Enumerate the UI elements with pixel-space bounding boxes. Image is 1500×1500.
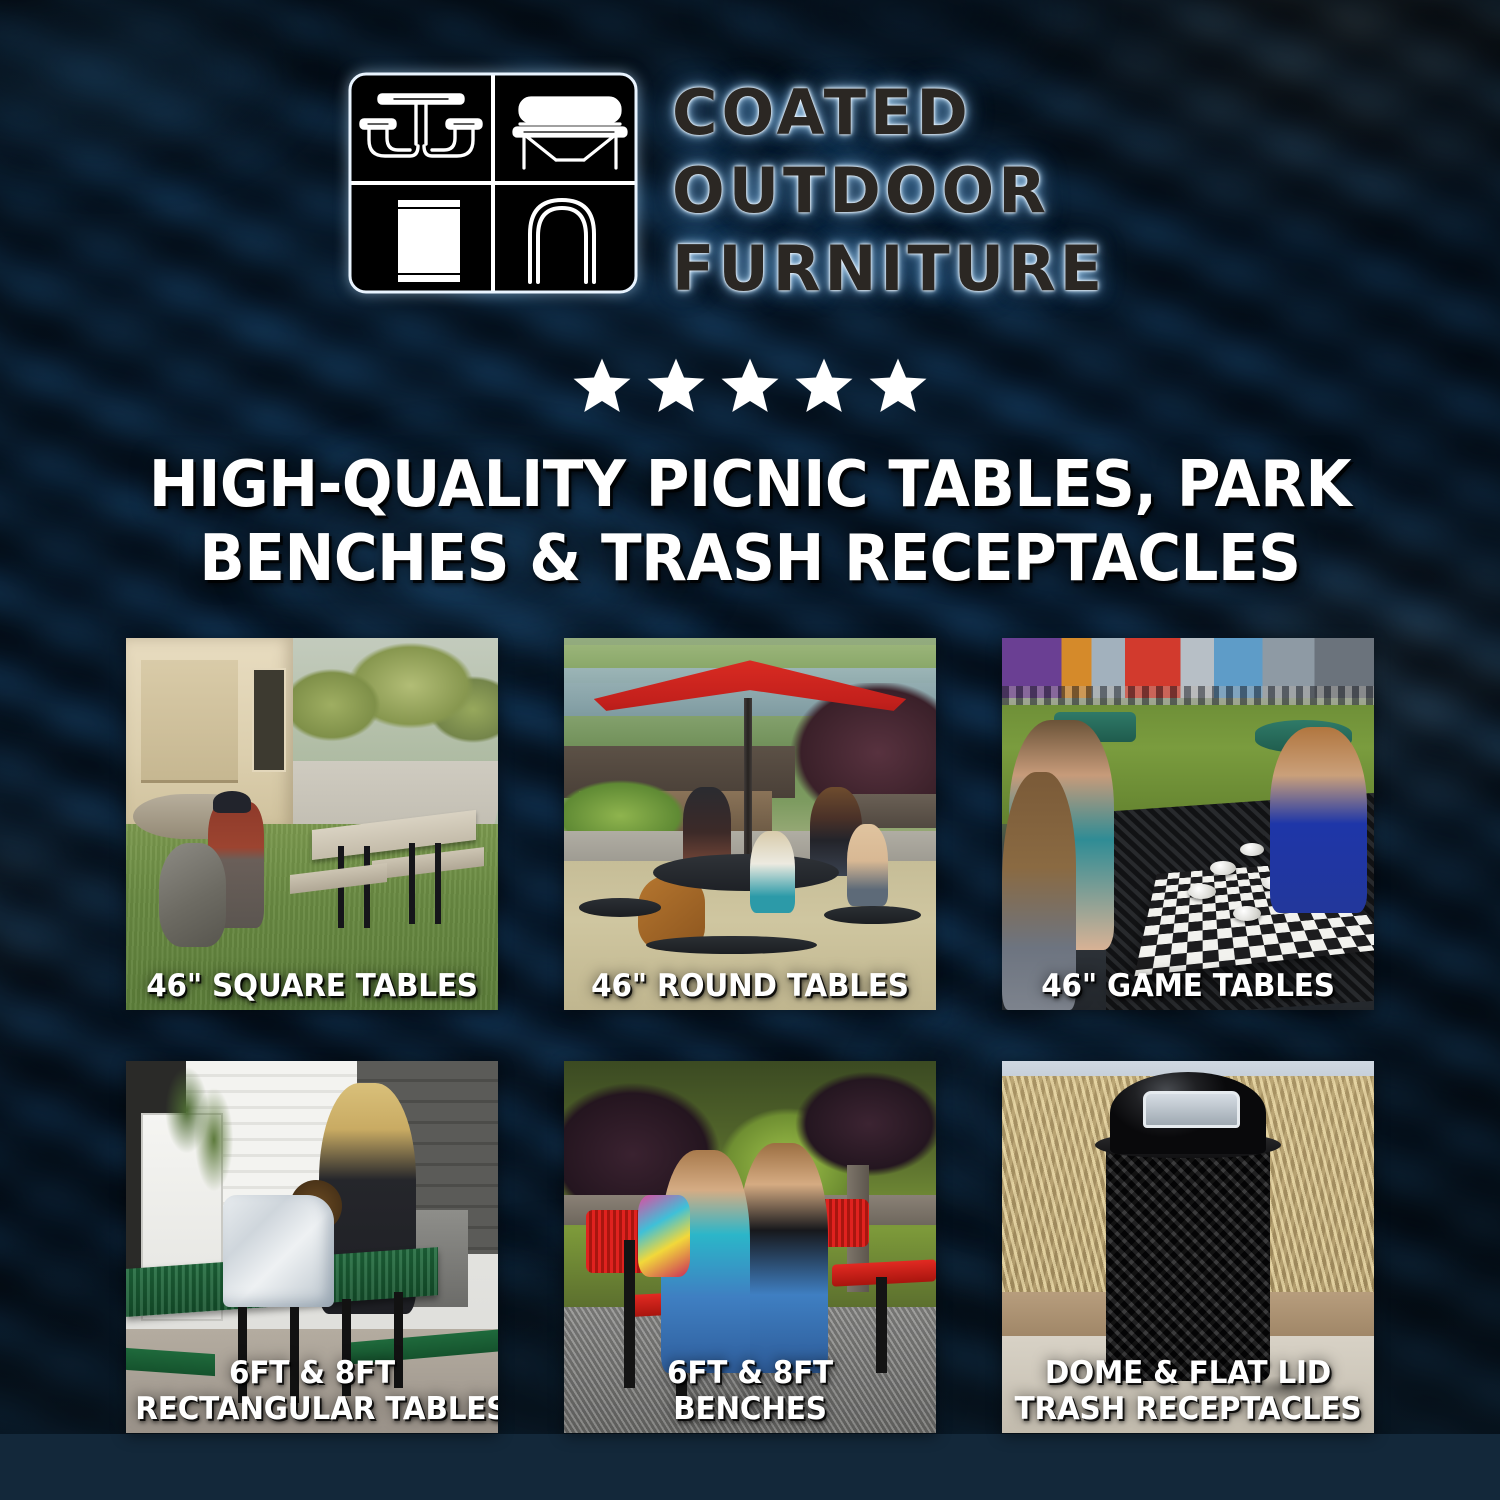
product-tile-trash-receptacles[interactable]: DOME & FLAT LID TRASH RECEPTACLES — [1002, 1061, 1374, 1433]
headline-line-2: BENCHES & TRASH RECEPTACLES — [53, 522, 1448, 596]
star-icon — [645, 356, 707, 416]
wordmark-line-coated: COATED — [672, 74, 1106, 152]
headline-line-1: HIGH-QUALITY PICNIC TABLES, PARK — [53, 448, 1448, 522]
product-photo-square-tables — [126, 638, 498, 1010]
product-caption-round-tables: 46" ROUND TABLES — [573, 968, 926, 1004]
product-caption-game-tables: 46" GAME TABLES — [1011, 968, 1364, 1004]
product-tile-square-tables[interactable]: 46" SQUARE TABLES — [126, 638, 498, 1010]
brand-logo-lockup[interactable]: COATED OUTDOOR FURNITURE — [348, 72, 1106, 308]
product-tile-round-tables[interactable]: 46" ROUND TABLES — [564, 638, 936, 1010]
caption-line-1: DOME & FLAT LID — [1011, 1355, 1364, 1391]
caption-line-1: 6FT & 8FT — [573, 1355, 926, 1391]
star-icon — [793, 356, 855, 416]
star-rating — [0, 356, 1500, 416]
caption-line-2: TRASH RECEPTACLES — [1011, 1391, 1364, 1427]
product-caption-square-tables: 46" SQUARE TABLES — [135, 968, 488, 1004]
product-photo-round-tables — [564, 638, 936, 1010]
wordmark-line-furniture: FURNITURE — [672, 230, 1106, 308]
flat-lid-receptacle-icon — [398, 200, 460, 282]
caption-line-1: 46" ROUND TABLES — [573, 968, 926, 1004]
product-tile-rectangular-tables[interactable]: 6FT & 8FT RECTANGULAR TABLES — [126, 1061, 498, 1433]
coated-outdoor-furniture-logo-icon — [348, 72, 638, 294]
caption-line-2: BENCHES — [573, 1391, 926, 1427]
page-title: HIGH-QUALITY PICNIC TABLES, PARK BENCHES… — [53, 448, 1448, 596]
product-tile-game-tables[interactable]: 46" GAME TABLES — [1002, 638, 1374, 1010]
product-caption-benches: 6FT & 8FT BENCHES — [573, 1355, 926, 1427]
caption-line-1: 46" GAME TABLES — [1011, 968, 1364, 1004]
brand-wordmark: COATED OUTDOOR FURNITURE — [672, 72, 1106, 308]
product-category-grid: 46" SQUARE TABLES — [126, 638, 1375, 1433]
star-icon — [867, 356, 929, 416]
product-caption-rectangular-tables: 6FT & 8FT RECTANGULAR TABLES — [135, 1355, 488, 1427]
product-photo-game-tables — [1002, 638, 1374, 1010]
caption-line-1: 46" SQUARE TABLES — [135, 968, 488, 1004]
product-caption-trash-receptacles: DOME & FLAT LID TRASH RECEPTACLES — [1011, 1355, 1364, 1427]
star-icon — [571, 356, 633, 416]
wordmark-line-outdoor: OUTDOOR — [672, 152, 1106, 230]
star-icon — [719, 356, 781, 416]
product-tile-benches[interactable]: 6FT & 8FT BENCHES — [564, 1061, 936, 1433]
caption-line-2: RECTANGULAR TABLES — [135, 1391, 488, 1427]
advertisement-banner: COATED OUTDOOR FURNITURE HIGH-QUALITY PI… — [0, 0, 1500, 1500]
caption-line-1: 6FT & 8FT — [135, 1355, 488, 1391]
